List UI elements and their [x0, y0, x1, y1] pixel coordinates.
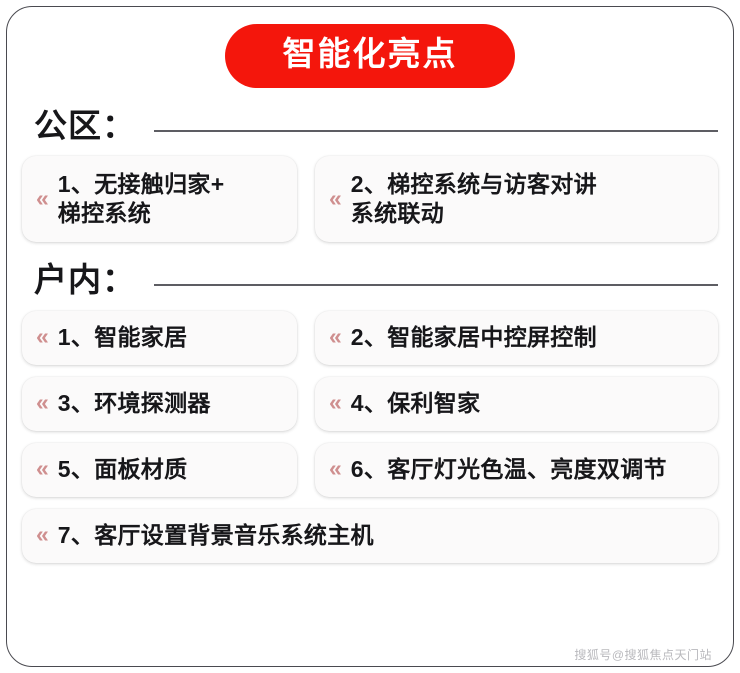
- section-divider-indoor: [154, 284, 718, 286]
- list-item-label: 2、梯控系统与访客对讲 系统联动: [351, 170, 597, 228]
- double-chevron-left-icon: «: [329, 325, 340, 348]
- double-chevron-left-icon: «: [329, 457, 340, 480]
- title-banner-wrapper: 智能化亮点: [22, 0, 718, 88]
- double-chevron-left-icon: «: [329, 187, 340, 210]
- list-item-label: 4、保利智家: [351, 389, 481, 418]
- section-header-indoor: 户内：: [22, 262, 718, 298]
- list-item[interactable]: « 5、面板材质: [22, 443, 297, 497]
- list-item-label-line1: 1、无接触归家+: [58, 171, 225, 197]
- double-chevron-left-icon: «: [36, 187, 47, 210]
- list-item[interactable]: « 1、智能家居: [22, 311, 297, 365]
- section-divider-public-area: [154, 130, 718, 132]
- card-row-indoor-3: « 5、面板材质 « 6、客厅灯光色温、亮度双调节: [22, 443, 718, 497]
- list-item-label: 3、环境探测器: [58, 389, 211, 418]
- list-item-label: 1、无接触归家+ 梯控系统: [58, 170, 225, 228]
- page-title: 智能化亮点: [283, 35, 458, 72]
- list-item-label: 1、智能家居: [58, 323, 188, 352]
- poster-content: 智能化亮点 公区： « 1、无接触归家+ 梯控系统 « 2、梯控系统与访客对讲 …: [0, 0, 740, 673]
- double-chevron-left-icon: «: [36, 457, 47, 480]
- list-item[interactable]: « 6、客厅灯光色温、亮度双调节: [315, 443, 718, 497]
- card-row-public-1: « 1、无接触归家+ 梯控系统 « 2、梯控系统与访客对讲 系统联动: [22, 156, 718, 242]
- double-chevron-left-icon: «: [36, 325, 47, 348]
- list-item[interactable]: « 4、保利智家: [315, 377, 718, 431]
- card-row-indoor-1: « 1、智能家居 « 2、智能家居中控屏控制: [22, 311, 718, 365]
- section-title-indoor: 户内：: [34, 262, 136, 298]
- double-chevron-left-icon: «: [329, 391, 340, 414]
- section-title-public-area: 公区：: [34, 108, 136, 144]
- list-item[interactable]: « 3、环境探测器: [22, 377, 297, 431]
- title-banner: 智能化亮点: [225, 24, 515, 88]
- list-item-label-line1: 2、梯控系统与访客对讲: [351, 171, 597, 197]
- list-item[interactable]: « 1、无接触归家+ 梯控系统: [22, 156, 297, 242]
- list-item-label: 5、面板材质: [58, 455, 188, 484]
- poster-page: 智能化亮点 公区： « 1、无接触归家+ 梯控系统 « 2、梯控系统与访客对讲 …: [0, 0, 740, 673]
- list-item-label-line2: 梯控系统: [58, 200, 151, 226]
- list-item[interactable]: « 7、客厅设置背景音乐系统主机: [22, 509, 718, 563]
- watermark-text: 搜狐号@搜狐焦点天门站: [574, 646, 712, 663]
- list-item[interactable]: « 2、梯控系统与访客对讲 系统联动: [315, 156, 718, 242]
- card-row-indoor-4: « 7、客厅设置背景音乐系统主机: [22, 509, 718, 563]
- double-chevron-left-icon: «: [36, 391, 47, 414]
- list-item-label: 2、智能家居中控屏控制: [351, 323, 597, 352]
- double-chevron-left-icon: «: [36, 523, 47, 546]
- list-item-label: 7、客厅设置背景音乐系统主机: [58, 521, 374, 550]
- list-item-label: 6、客厅灯光色温、亮度双调节: [351, 455, 667, 484]
- section-header-public-area: 公区：: [22, 108, 718, 144]
- list-item[interactable]: « 2、智能家居中控屏控制: [315, 311, 718, 365]
- card-row-indoor-2: « 3、环境探测器 « 4、保利智家: [22, 377, 718, 431]
- list-item-label-line2: 系统联动: [351, 200, 444, 226]
